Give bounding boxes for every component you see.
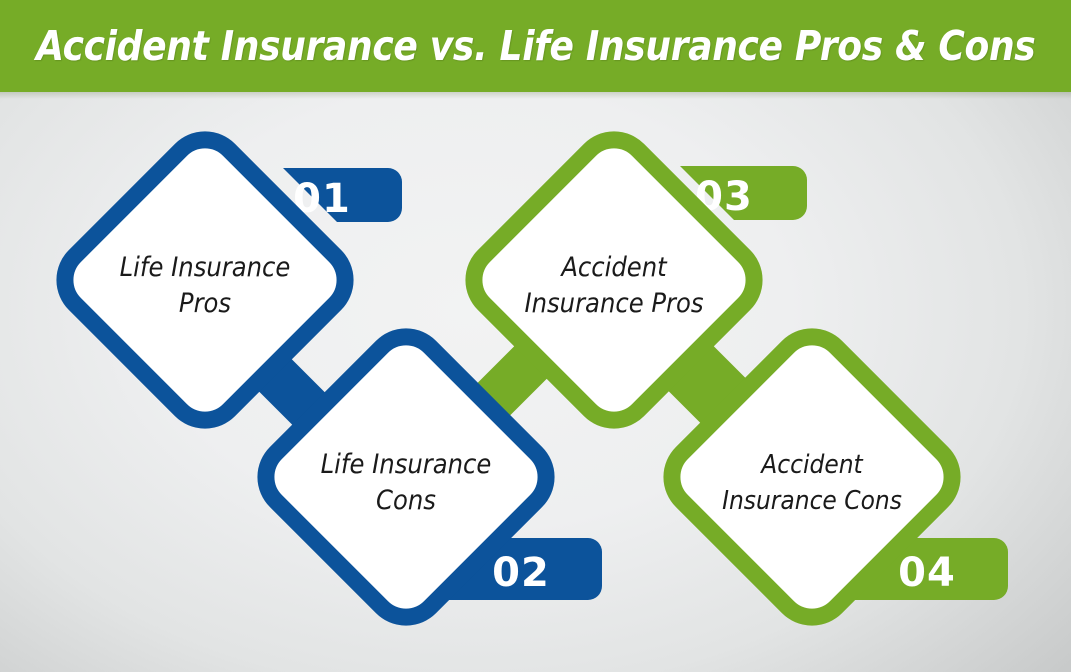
node-01-label-line2: Pros — [179, 288, 231, 319]
node-02-label-line2: Cons — [376, 485, 436, 516]
infographic-canvas: 01 Life Insurance Pros 03 Accident Insur… — [0, 0, 1071, 672]
badge-04-number: 04 — [898, 550, 956, 596]
header-band: Accident Insurance vs. Life Insurance Pr… — [0, 0, 1071, 92]
node-02-label-line1: Life Insurance — [321, 449, 492, 480]
node-03-label-line2: Insurance Pros — [524, 288, 703, 319]
node-04-label-line1: Accident — [759, 450, 863, 480]
node-03-label-line1: Accident — [559, 252, 668, 283]
badge-02-number: 02 — [492, 550, 550, 596]
node-04-label-line2: Insurance Cons — [722, 486, 902, 516]
page-title: Accident Insurance vs. Life Insurance Pr… — [36, 22, 1035, 70]
diagram-svg: 01 Life Insurance Pros 03 Accident Insur… — [0, 0, 1071, 672]
node-01-label-line1: Life Insurance — [120, 252, 291, 283]
